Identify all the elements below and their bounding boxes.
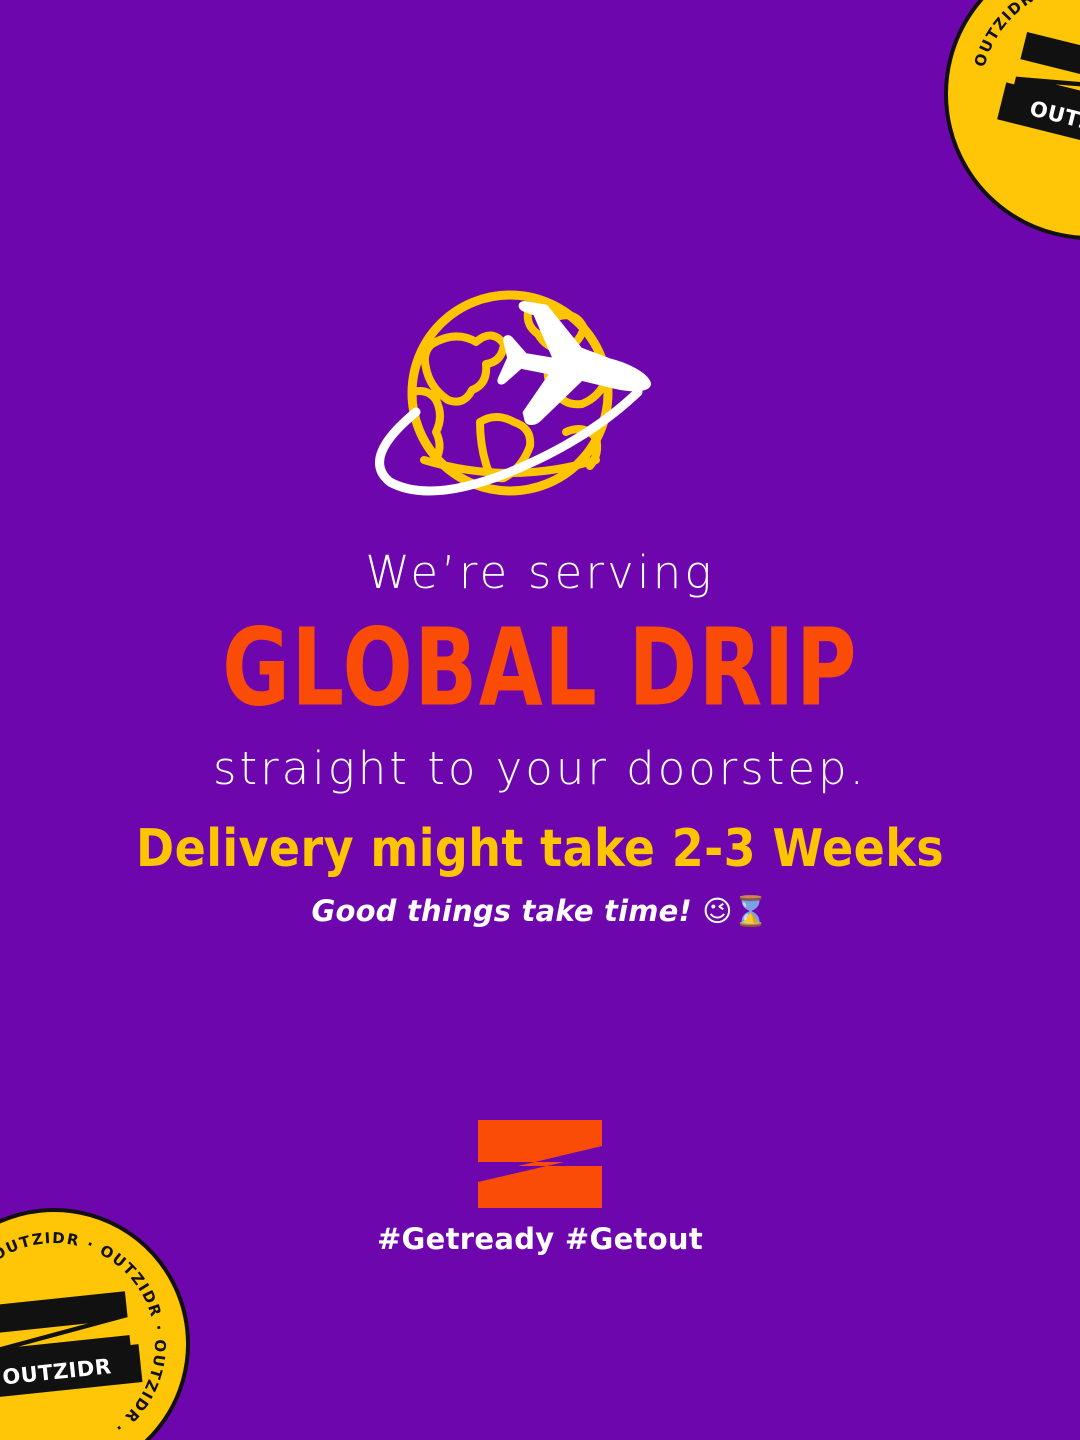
outzidr-badge-top-right: OUTZIDR · OUTZIDR · OUTZIDR · OUTZIDR · … [913, 0, 1080, 271]
globe-airplane-illustration [352, 272, 728, 520]
promo-poster: OUTZIDR · OUTZIDR · OUTZIDR · OUTZIDR · … [0, 0, 1080, 1440]
headline-block: We’re serving GLOBAL DRIP straight to yo… [0, 548, 1080, 793]
svg-text:OUTZIDR: OUTZIDR [1, 1354, 112, 1389]
outzidr-badge-bottom-left: OUTZIDR · OUTZIDR · OUTZIDR · OUTZIDR · … [0, 1195, 203, 1440]
delivery-note-emoji: 😉⌛ [702, 894, 768, 928]
badge-logo-mark-bl: OUTZIDR [0, 1288, 142, 1399]
eyebrow-text: We’re serving [0, 548, 1080, 598]
subtitle-text: straight to your doorstep. [0, 744, 1080, 794]
globe-icon [412, 295, 608, 491]
delivery-note: Good things take time! 😉⌛ [0, 894, 1080, 929]
page-title: GLOBAL DRIP [32, 612, 1047, 725]
outzidr-z-logo-icon [478, 1120, 602, 1208]
delivery-estimate-text: Delivery might take 2-3 Weeks [0, 818, 1080, 878]
delivery-info-block: Delivery might take 2-3 Weeks Good thing… [0, 818, 1080, 929]
delivery-note-text: Good things take time! [311, 894, 691, 928]
